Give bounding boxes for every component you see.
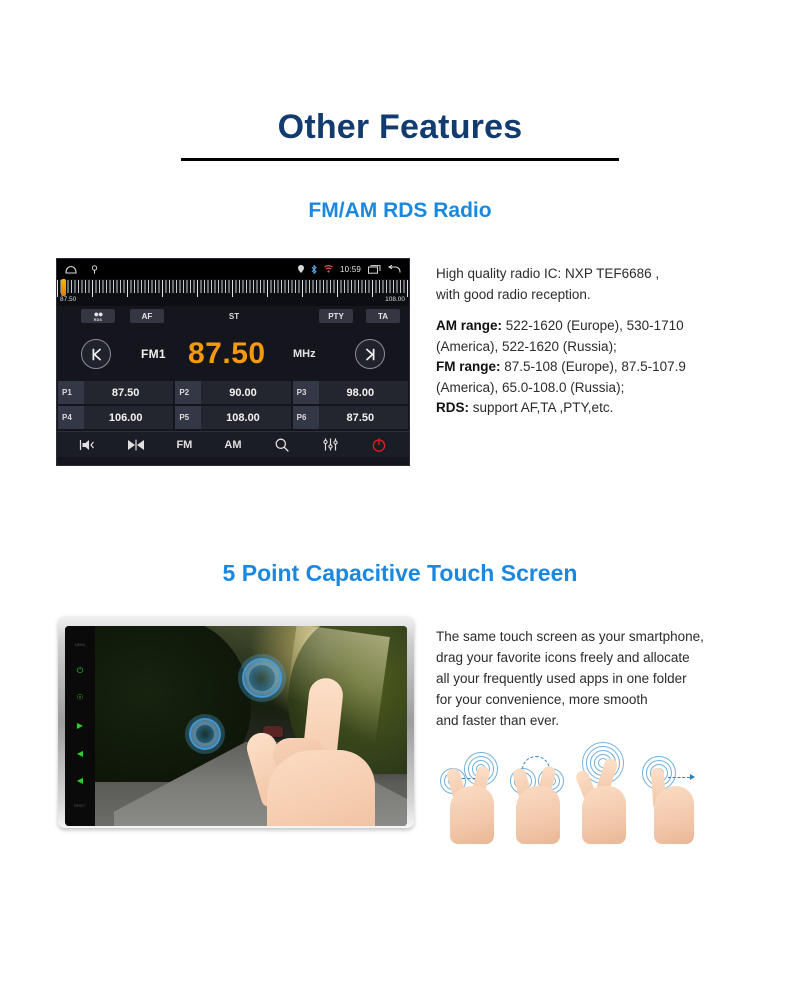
preset-number: P3 (293, 381, 319, 404)
radio-frequency-value: 87.50 (188, 337, 266, 371)
am-range-label: AM range: (436, 318, 502, 333)
preset-number: P2 (175, 381, 201, 404)
preset-frequency: 108.00 (201, 412, 290, 424)
radio-frequency-unit: MHz (293, 348, 316, 360)
preset-button-p4[interactable]: P4 106.00 (58, 406, 173, 429)
device-wallpaper[interactable] (95, 626, 407, 826)
mode-key[interactable]: ▶ (77, 722, 83, 730)
hand (516, 786, 560, 844)
rds-support-value: support AF,TA ,PTY,etc. (469, 400, 613, 415)
preset-frequency: 87.50 (84, 387, 173, 399)
radio-tag-row: ●● RDS AF ST PTY TA (57, 306, 409, 328)
preset-number: P4 (58, 406, 84, 429)
radio-screenshot: 10:59 87.50 108.00 ●● RDS (56, 258, 410, 466)
stereo-indicator: ST (217, 309, 251, 323)
recent-apps-icon[interactable] (368, 265, 381, 274)
fm-band-button[interactable]: FM (171, 432, 197, 457)
volume-up-key[interactable]: ◀ (77, 777, 83, 785)
touch-device-photo: MENU ⏻ ☉ ▶ ◀ ◀ RESET (58, 612, 414, 852)
scale-high-label: 108.00 (385, 296, 405, 303)
rds-logo-icon: ●● RDS (94, 310, 103, 323)
volume-down-key[interactable]: ◀ (77, 750, 83, 758)
wallpaper-car (263, 726, 283, 737)
preset-frequency: 90.00 (201, 387, 290, 399)
status-bar-time: 10:59 (340, 265, 361, 274)
am-band-button[interactable]: AM (220, 432, 246, 457)
radio-intro-line2: with good radio reception. (436, 287, 591, 302)
scale-needle[interactable] (61, 279, 66, 296)
af-button[interactable]: AF (130, 309, 164, 323)
back-arrow-icon[interactable] (388, 265, 401, 274)
power-key[interactable]: ⏻ (77, 667, 83, 675)
preset-button-p1[interactable]: P1 87.50 (58, 381, 173, 404)
radio-tuner-row: FM1 87.50 MHz (57, 328, 409, 380)
am-range-value-2: (America), 522-1620 (Russia); (436, 339, 617, 354)
device-side-keys: MENU ⏻ ☉ ▶ ◀ ◀ RESET (65, 626, 95, 826)
preset-number: P5 (175, 406, 201, 429)
pty-button[interactable]: PTY (319, 309, 353, 323)
rds-button[interactable]: ●● RDS (81, 309, 115, 323)
preset-button-p3[interactable]: P3 98.00 (293, 381, 408, 404)
rotate-gesture (508, 748, 566, 848)
touch-line-1: The same touch screen as your smartphone… (436, 629, 704, 644)
preset-button-p5[interactable]: P5 108.00 (175, 406, 290, 429)
fm-range-label: FM range: (436, 359, 501, 374)
section-heading-radio: FM/AM RDS Radio (0, 199, 800, 223)
menu-key[interactable]: MENU (75, 644, 85, 648)
radio-status-bar: 10:59 (57, 259, 409, 279)
home-icon[interactable] (65, 265, 77, 274)
radio-band-label: FM1 (141, 347, 166, 361)
home-key[interactable]: ☉ (76, 694, 83, 702)
touch-line-5: and faster than ever. (436, 713, 559, 728)
radio-intro-line1: High quality radio IC: NXP TEF6686 , (436, 266, 659, 281)
mute-speaker-icon[interactable] (74, 432, 100, 457)
hand (450, 786, 494, 844)
touch-line-2: drag your favorite icons freely and allo… (436, 650, 690, 665)
pinch-zoom-gesture (442, 748, 500, 848)
radio-bottom-toolbar: FM AM (57, 431, 409, 457)
seek-next-button[interactable] (355, 339, 385, 369)
location-pin-icon (298, 265, 304, 273)
preset-number: P1 (58, 381, 84, 404)
page-title: Other Features (0, 108, 800, 147)
preset-number: P6 (293, 406, 319, 429)
gesture-illustrations (442, 748, 700, 848)
touch-point-ring (242, 658, 282, 698)
seek-previous-button[interactable] (81, 339, 111, 369)
touch-point-ring (189, 718, 221, 750)
preset-button-p2[interactable]: P2 90.00 (175, 381, 290, 404)
fm-range-value-2: (America), 65.0-108.0 (Russia); (436, 380, 624, 395)
page-root: Other Features FM/AM RDS Radio (0, 0, 800, 1004)
stereo-local-icon[interactable] (123, 432, 149, 457)
wallpaper-sunbeam (281, 626, 390, 756)
scale-low-label: 87.50 (60, 296, 76, 303)
touch-line-3: all your frequently used apps in one fol… (436, 671, 687, 686)
gps-pin-icon (91, 265, 98, 274)
reset-key[interactable]: RESET (74, 805, 86, 809)
preset-row: P4 106.00 P5 108.00 P6 87.50 (57, 406, 409, 431)
fm-range-value-1: 87.5-108 (Europe), 87.5-107.9 (501, 359, 686, 374)
scale-ticks-major (57, 280, 409, 297)
swipe-gesture (640, 748, 698, 848)
touch-description: The same touch screen as your smartphone… (436, 626, 772, 731)
radio-preset-grid: P1 87.50 P2 90.00 P3 98.00 P4 106.00 (57, 380, 409, 431)
wifi-icon (324, 265, 333, 273)
am-range-value-1: 522-1620 (Europe), 530-1710 (502, 318, 684, 333)
tap-gesture (574, 748, 632, 848)
device-bezel: MENU ⏻ ☉ ▶ ◀ ◀ RESET (58, 616, 414, 828)
rds-support-label: RDS: (436, 400, 469, 415)
radio-frequency-scale[interactable]: 87.50 108.00 (57, 279, 409, 306)
preset-frequency: 106.00 (84, 412, 173, 424)
hand (582, 786, 626, 844)
hand (654, 786, 694, 844)
device-screen-area: MENU ⏻ ☉ ▶ ◀ ◀ RESET (65, 626, 407, 826)
title-divider (181, 158, 619, 161)
preset-button-p6[interactable]: P6 87.50 (293, 406, 408, 429)
ta-button[interactable]: TA (366, 309, 400, 323)
preset-row: P1 87.50 P2 90.00 P3 98.00 (57, 381, 409, 406)
radio-description: High quality radio IC: NXP TEF6686 , wit… (436, 264, 756, 419)
section-heading-touch: 5 Point Capacitive Touch Screen (0, 560, 800, 587)
search-icon[interactable] (269, 432, 295, 457)
power-icon[interactable] (366, 432, 392, 457)
preset-frequency: 98.00 (319, 387, 408, 399)
bluetooth-icon (311, 265, 317, 274)
touch-line-4: for your convenience, more smooth (436, 692, 648, 707)
equalizer-icon[interactable] (317, 432, 343, 457)
preset-frequency: 87.50 (319, 412, 408, 424)
